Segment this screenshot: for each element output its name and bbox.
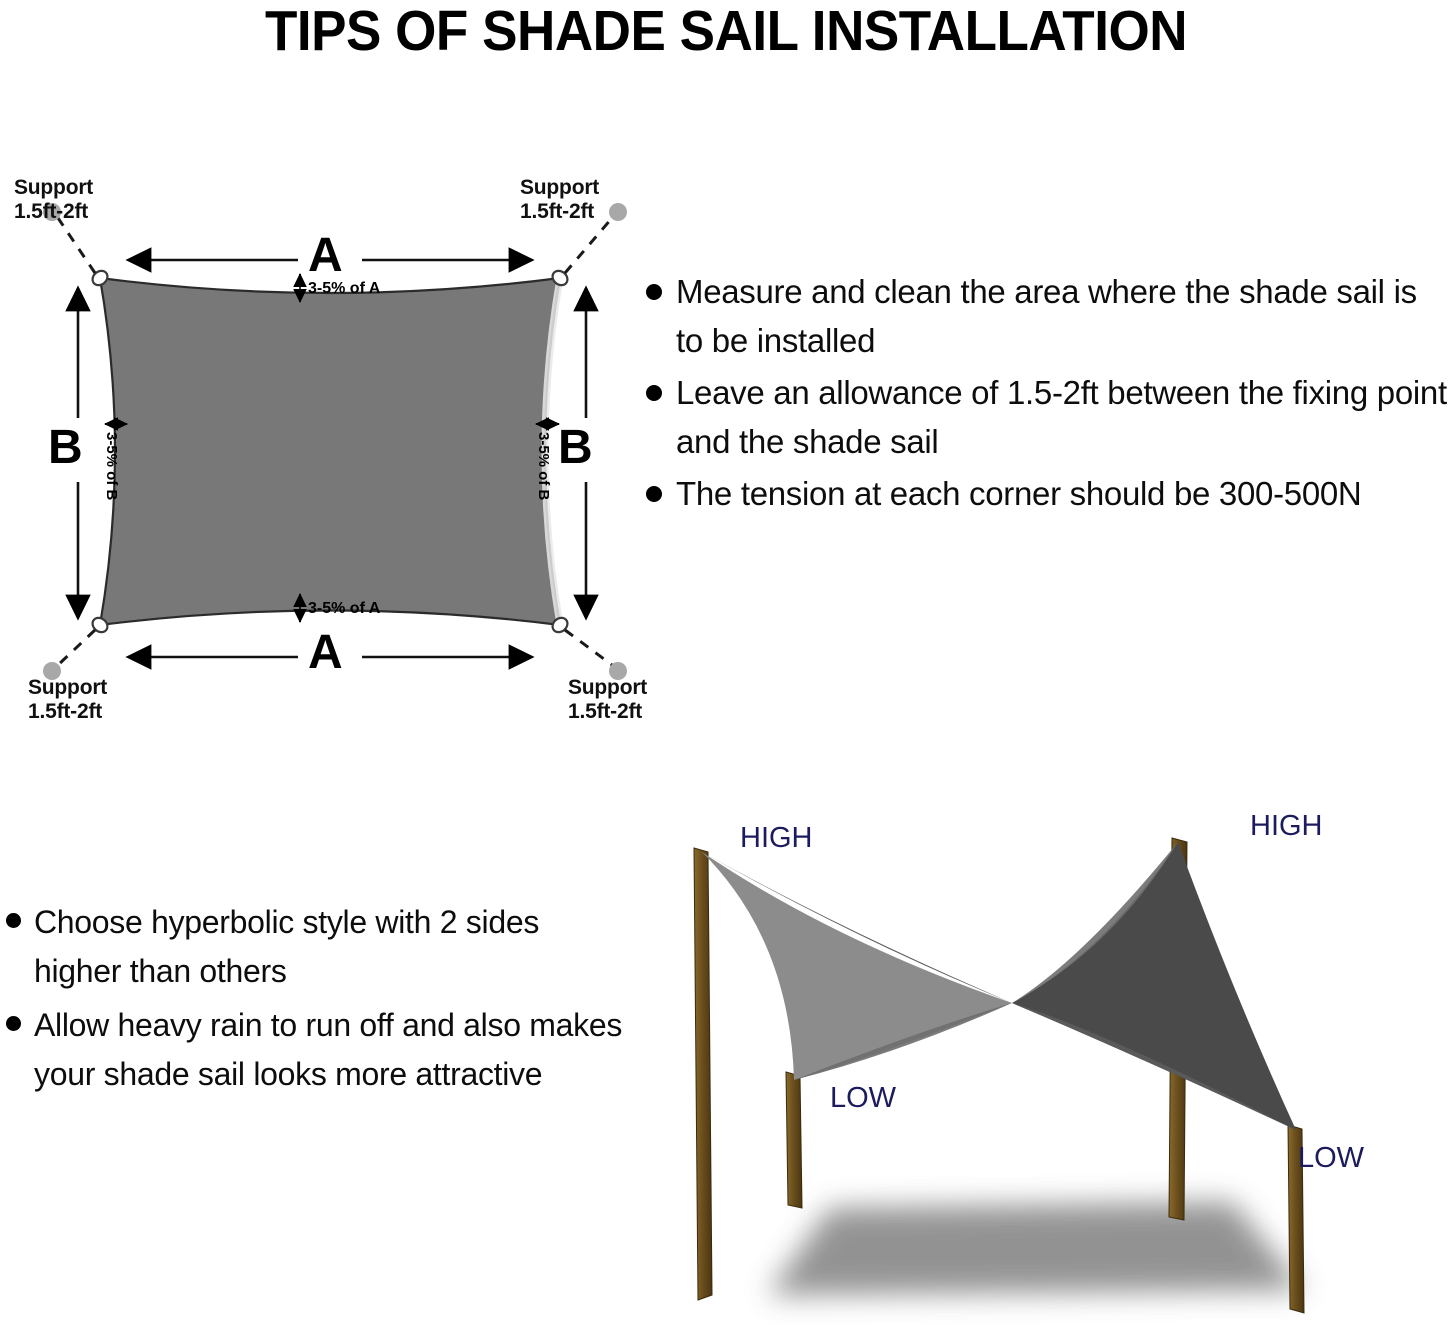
hyperbolic-sail-illustration: HIGH HIGH LOW LOW — [672, 790, 1452, 1325]
list-item: Leave an allowance of 1.5-2ft between th… — [646, 369, 1452, 466]
support-label-text: Support — [520, 176, 599, 199]
list-item: Allow heavy rain to run off and also mak… — [6, 1001, 628, 1100]
dimension-letter-b-left: B — [48, 424, 83, 472]
bullet-icon — [6, 913, 21, 928]
list-item: The tension at each corner should be 300… — [646, 470, 1452, 519]
label-low-right: LOW — [1298, 1142, 1364, 1175]
sail-panel-light — [702, 852, 1012, 1080]
curve-label-bottom: 3-5% of A — [308, 600, 380, 618]
pole-high-left — [694, 848, 712, 1300]
support-value-text: 1.5ft-2ft — [14, 200, 88, 223]
list-item: Measure and clean the area where the sha… — [646, 268, 1452, 365]
tip-text: The tension at each corner should be 300… — [676, 470, 1361, 519]
hyperbolic-tips-list: Choose hyperbolic style with 2 sides hig… — [6, 898, 628, 1103]
dimension-letter-a-top: A — [308, 232, 343, 280]
dimension-letter-a-bottom: A — [308, 629, 343, 677]
support-value-text: 1.5ft-2ft — [568, 700, 642, 723]
support-value-text: 1.5ft-2ft — [520, 200, 594, 223]
installation-tips-list: Measure and clean the area where the sha… — [646, 268, 1452, 523]
list-item: Choose hyperbolic style with 2 sides hig… — [6, 898, 628, 997]
page-title: TIPS OF SHADE SAIL INSTALLATION — [51, 0, 1401, 62]
label-high-left: HIGH — [740, 822, 813, 855]
tip-text: Allow heavy rain to run off and also mak… — [34, 1001, 628, 1100]
bullet-icon — [646, 284, 662, 300]
tip-text: Choose hyperbolic style with 2 sides hig… — [34, 898, 628, 997]
tip-text: Measure and clean the area where the sha… — [676, 268, 1452, 365]
curve-label-left: 3-5% of B — [103, 432, 120, 500]
hyperbolic-sail-graphics — [672, 790, 1452, 1325]
label-low-left: LOW — [830, 1082, 896, 1115]
support-label-top-left: Support 1.5ft-2ft — [14, 176, 93, 223]
bullet-icon — [646, 486, 662, 502]
bullet-icon — [646, 385, 662, 401]
support-value-text: 1.5ft-2ft — [28, 700, 102, 723]
ground-shadow — [768, 1202, 1304, 1295]
support-label-top-right: Support 1.5ft-2ft — [520, 176, 599, 223]
curve-label-top: 3-5% of A — [308, 280, 380, 298]
dimension-letter-b-right: B — [558, 424, 593, 472]
support-label-text: Support — [28, 676, 107, 699]
tip-text: Leave an allowance of 1.5-2ft between th… — [676, 369, 1452, 466]
label-high-right: HIGH — [1250, 810, 1323, 843]
support-label-text: Support — [568, 676, 647, 699]
support-label-bottom-left: Support 1.5ft-2ft — [28, 676, 107, 723]
support-label-text: Support — [14, 176, 93, 199]
pole-low-left — [786, 1072, 802, 1208]
curve-label-right: 3-5% of B — [535, 432, 552, 500]
sail-panel-dark — [1012, 842, 1296, 1130]
rectangular-sail-diagram: Support 1.5ft-2ft Support 1.5ft-2ft Supp… — [0, 160, 660, 740]
support-label-bottom-right: Support 1.5ft-2ft — [568, 676, 647, 723]
bullet-icon — [6, 1016, 21, 1031]
